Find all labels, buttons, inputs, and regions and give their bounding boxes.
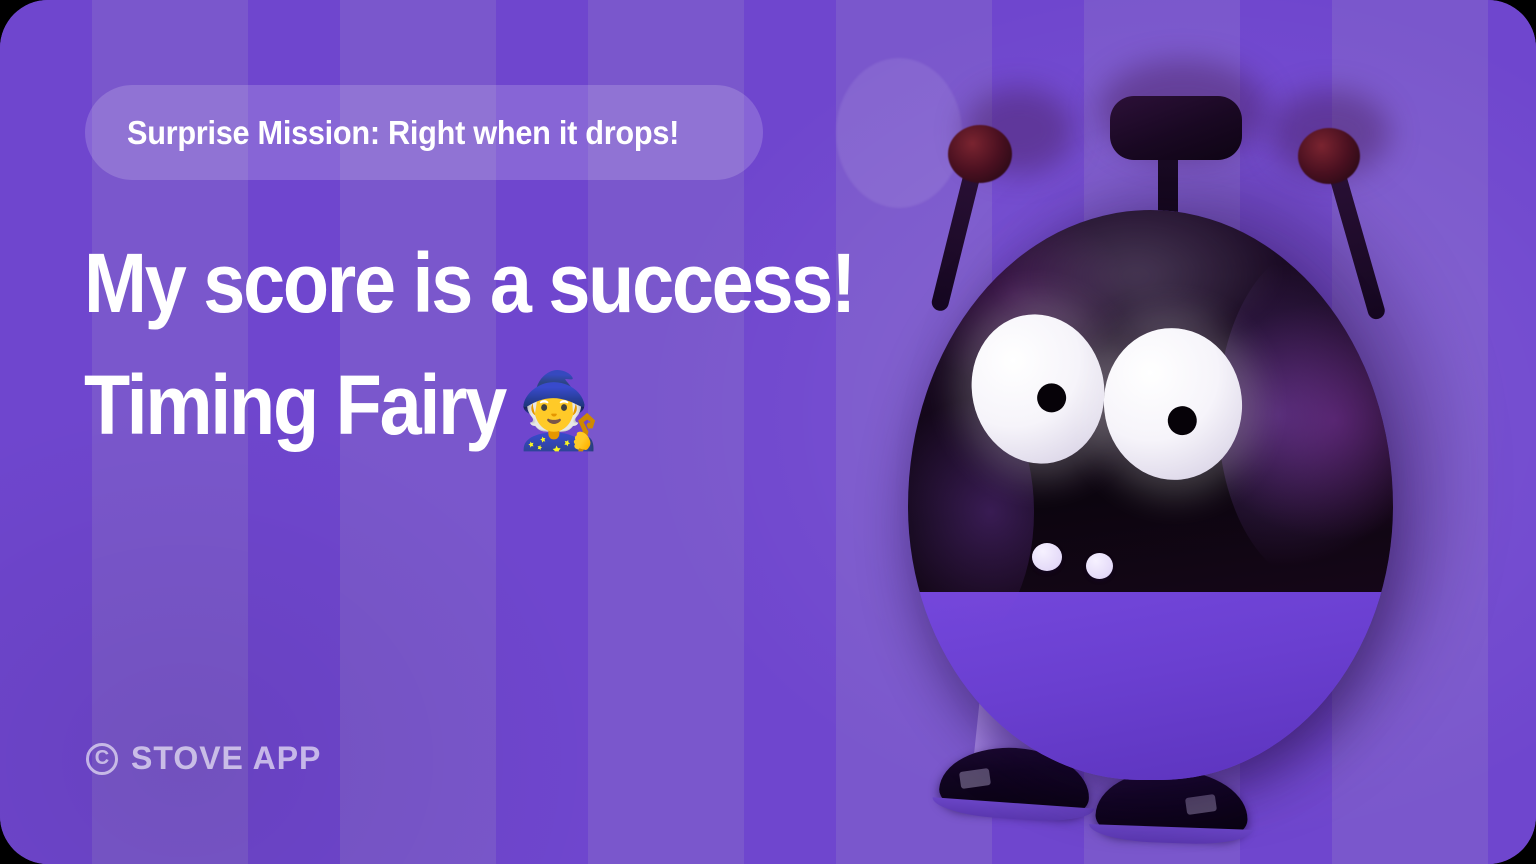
mage-emoji-icon: 🧙 <box>518 374 599 448</box>
mascot-character <box>850 40 1470 840</box>
antenna-center-bar <box>1110 96 1242 160</box>
headline-line-2: Timing Fairy 🧙 <box>84 344 813 466</box>
antenna-left-bulb <box>948 125 1012 183</box>
footer-attribution: C STOVE APP <box>86 740 321 777</box>
page-title: My score is a success! Timing Fairy 🧙 <box>84 222 894 466</box>
leg-left-sole <box>931 797 1094 824</box>
leg-right-sole <box>1089 824 1253 846</box>
brand-label: STOVE APP <box>131 740 321 777</box>
headline-line-1-text: My score is a success! <box>84 222 854 344</box>
antenna-right-bulb <box>1298 128 1360 184</box>
promo-card: Surprise Mission: Right when it drops! M… <box>0 0 1536 864</box>
pupil-right <box>1166 405 1198 437</box>
headline-line-1: My score is a success! <box>84 222 813 344</box>
mascot-body <box>908 210 1393 780</box>
belly-button-2 <box>1086 553 1113 579</box>
copyright-icon: C <box>86 743 118 775</box>
text-content: Surprise Mission: Right when it drops! M… <box>0 0 900 864</box>
mission-badge-label: Surprise Mission: Right when it drops! <box>127 114 679 152</box>
headline-line-2-text: Timing Fairy <box>84 344 505 466</box>
pupil-left <box>1035 381 1069 415</box>
mission-badge: Surprise Mission: Right when it drops! <box>85 85 763 180</box>
belly-button-1 <box>1032 543 1062 571</box>
